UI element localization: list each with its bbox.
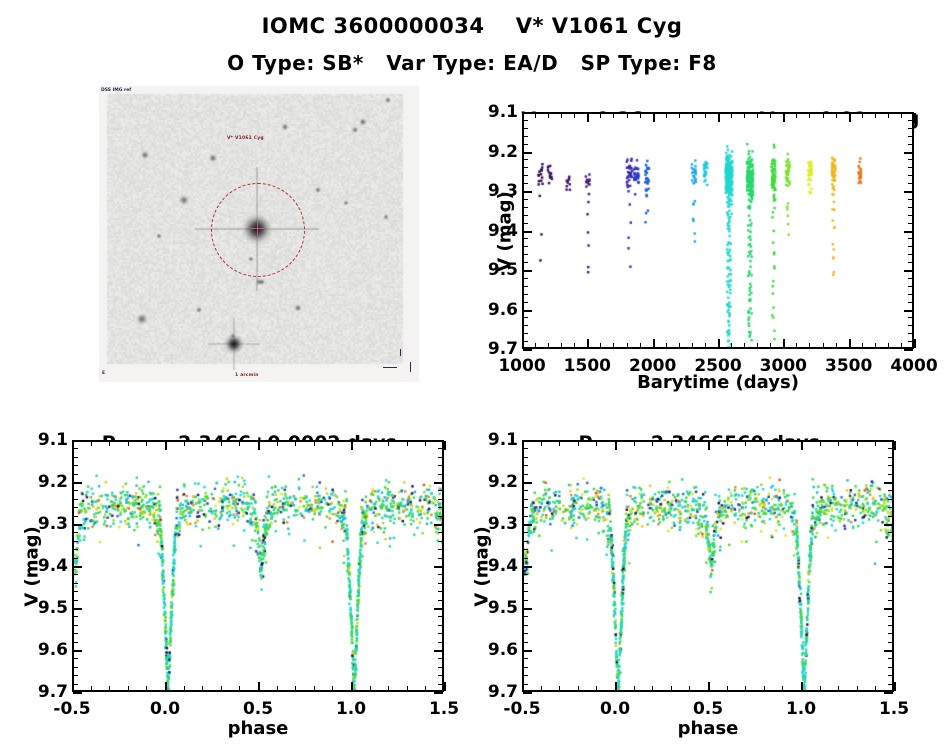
axis-tick <box>351 441 353 450</box>
axis-tick <box>434 566 443 568</box>
axis-tick <box>708 441 710 450</box>
axis-tick <box>523 650 532 652</box>
axis-tick <box>523 667 528 668</box>
axis-tick <box>73 507 78 508</box>
axis-tick <box>332 686 333 691</box>
axis-tick <box>888 574 893 575</box>
axis-tick <box>523 152 532 154</box>
axis-tick <box>888 343 889 348</box>
axis-tick <box>888 448 893 449</box>
axis-tick <box>884 650 893 652</box>
axis-tick <box>875 343 876 348</box>
axis-tick <box>73 465 78 466</box>
axis-tick <box>782 686 783 691</box>
axis-tick <box>73 642 78 643</box>
axis-tick <box>523 254 528 255</box>
axis-tick <box>857 441 858 446</box>
axis-tick <box>444 441 446 450</box>
axis-tick <box>888 625 893 626</box>
page-subtitle: O Type: SB* Var Type: EA/D SP Type: F8 <box>0 51 944 75</box>
axis-tick <box>908 278 913 279</box>
x-tick-label: 0.0 <box>600 699 630 719</box>
axis-tick <box>523 549 528 550</box>
axis-tick <box>73 474 78 475</box>
axis-tick <box>666 113 667 118</box>
axis-tick <box>731 343 732 348</box>
axis-tick <box>434 692 443 694</box>
axis-tick <box>744 343 745 348</box>
axis-tick <box>239 441 240 446</box>
axis-tick <box>914 339 916 348</box>
axis-tick <box>523 333 528 334</box>
axis-tick <box>438 667 443 668</box>
axis-tick <box>757 113 758 118</box>
axis-tick <box>908 136 913 137</box>
axis-tick <box>523 246 528 247</box>
axis-tick <box>908 246 913 247</box>
y-tick-label: 9.4 <box>22 556 68 576</box>
axis-tick <box>202 441 203 446</box>
axis-tick <box>888 516 893 517</box>
axis-tick <box>894 682 896 691</box>
axis-tick <box>559 441 560 446</box>
axis-tick <box>796 343 797 348</box>
timeseries-plot-area[interactable] <box>522 112 914 349</box>
axis-tick <box>884 692 893 694</box>
phase-vsx-x-axis-label: phase <box>522 718 894 739</box>
axis-tick <box>73 583 78 584</box>
axis-tick <box>72 441 74 450</box>
axis-tick <box>523 159 528 160</box>
axis-tick <box>904 231 913 233</box>
axis-tick <box>370 686 371 691</box>
axis-tick <box>438 591 443 592</box>
axis-tick <box>523 183 528 184</box>
axis-tick <box>908 128 913 129</box>
axis-tick <box>146 686 147 691</box>
axis-tick <box>653 113 655 122</box>
axis-tick <box>908 223 913 224</box>
axis-tick <box>888 474 893 475</box>
axis-tick <box>523 112 532 114</box>
axis-tick <box>901 343 902 348</box>
image-source-label: DSS IMG ref <box>101 88 131 93</box>
axis-tick <box>901 113 902 118</box>
axis-tick <box>652 441 653 446</box>
axis-tick <box>708 682 710 691</box>
axis-tick <box>535 113 536 118</box>
y-tick-label: 9.6 <box>22 640 68 660</box>
axis-tick <box>888 532 893 533</box>
axis-tick <box>314 441 315 446</box>
axis-tick <box>523 583 528 584</box>
axis-tick <box>634 441 635 446</box>
axis-tick <box>434 650 443 652</box>
axis-tick <box>73 490 78 491</box>
axis-tick <box>523 317 528 318</box>
axis-tick <box>523 278 528 279</box>
x-tick-label: -0.5 <box>53 699 90 719</box>
orientation-label-east: E <box>102 371 105 376</box>
axis-tick <box>541 686 542 691</box>
y-tick-label: 9.2 <box>472 472 518 492</box>
axis-tick <box>523 199 528 200</box>
axis-tick <box>671 686 672 691</box>
axis-tick <box>888 507 893 508</box>
y-tick-label: 9.2 <box>22 472 68 492</box>
axis-tick <box>523 600 528 601</box>
axis-tick <box>908 262 913 263</box>
axis-tick <box>764 686 765 691</box>
axis-tick <box>523 490 528 491</box>
axis-tick <box>438 675 443 676</box>
axis-tick <box>857 686 858 691</box>
phase-omc-x-axis-label: phase <box>72 718 444 739</box>
axis-tick <box>388 441 389 446</box>
y-tick-label: 9.6 <box>472 300 518 320</box>
axis-tick <box>596 441 597 446</box>
scale-bar-tick <box>410 362 411 372</box>
axis-tick <box>523 675 528 676</box>
axis-tick <box>600 343 601 348</box>
axis-tick <box>634 686 635 691</box>
axis-tick <box>615 441 617 450</box>
axis-tick <box>884 566 893 568</box>
axis-tick <box>425 441 426 446</box>
axis-tick <box>72 682 74 691</box>
aperture-circle <box>211 183 305 277</box>
sky-image-panel: V* V1061 Cyg DSS IMG ref E 1 arcmin <box>99 86 419 382</box>
axis-tick <box>258 682 260 691</box>
y-tick-label: 9.5 <box>472 598 518 618</box>
axis-tick <box>73 574 78 575</box>
axis-tick <box>184 686 185 691</box>
axis-tick <box>523 136 528 137</box>
axis-tick <box>908 167 913 168</box>
axis-tick <box>718 113 720 122</box>
axis-tick <box>277 441 278 446</box>
axis-tick <box>523 499 528 500</box>
axis-tick <box>559 686 560 691</box>
axis-tick <box>809 113 810 118</box>
axis-tick <box>523 566 532 568</box>
axis-tick <box>627 113 628 118</box>
axis-tick <box>523 286 528 287</box>
x-tick-label: 0.0 <box>150 699 180 719</box>
axis-tick <box>523 167 528 168</box>
axis-tick <box>745 441 746 446</box>
axis-tick <box>587 339 589 348</box>
axis-tick <box>908 302 913 303</box>
axis-tick <box>888 591 893 592</box>
axis-tick <box>73 616 78 617</box>
axis-tick <box>875 686 876 691</box>
axis-tick <box>801 441 803 450</box>
axis-tick <box>184 441 185 446</box>
axis-tick <box>73 675 78 676</box>
axis-tick <box>523 144 528 145</box>
axis-tick <box>862 343 863 348</box>
axis-tick <box>73 524 82 526</box>
axis-tick <box>523 532 528 533</box>
axis-tick <box>109 686 110 691</box>
axis-tick <box>434 608 443 610</box>
axis-tick <box>908 317 913 318</box>
axis-tick <box>523 191 532 193</box>
axis-tick <box>692 113 693 118</box>
axis-tick <box>438 625 443 626</box>
axis-tick <box>820 686 821 691</box>
axis-tick <box>523 262 528 263</box>
axis-tick <box>434 524 443 526</box>
axis-tick <box>884 482 893 484</box>
page-title: IOMC 3600000034 V* V1061 Cyg <box>0 14 944 38</box>
phase-omc-scatter <box>74 442 444 692</box>
axis-tick <box>764 441 765 446</box>
axis-tick <box>823 343 824 348</box>
x-tick-label: 0.5 <box>243 699 273 719</box>
axis-tick <box>888 490 893 491</box>
axis-tick <box>888 600 893 601</box>
axis-tick <box>849 339 851 348</box>
axis-tick <box>434 482 443 484</box>
phase-vsx-plot-area[interactable] <box>522 440 894 692</box>
axis-tick <box>523 558 528 559</box>
axis-tick <box>888 583 893 584</box>
axis-tick <box>888 684 893 685</box>
axis-tick <box>888 465 893 466</box>
axis-tick <box>522 339 524 348</box>
axis-tick <box>849 113 851 122</box>
axis-tick <box>523 658 528 659</box>
y-tick-label: 9.4 <box>472 221 518 241</box>
axis-tick <box>836 113 837 118</box>
axis-tick <box>727 686 728 691</box>
axis-tick <box>73 600 78 601</box>
axis-tick <box>221 441 222 446</box>
axis-tick <box>73 541 78 542</box>
axis-tick <box>73 566 82 568</box>
axis-tick <box>73 516 78 517</box>
x-tick-label: 1.0 <box>786 699 816 719</box>
axis-tick <box>888 658 893 659</box>
axis-tick <box>438 499 443 500</box>
axis-tick <box>73 532 78 533</box>
axis-tick <box>679 343 680 348</box>
axis-tick <box>615 682 617 691</box>
axis-tick <box>523 238 528 239</box>
timeseries-panel: Vmed = 9.26 mag <err_V> = 0.01 mag V (ma… <box>470 86 944 386</box>
axis-tick <box>295 686 296 691</box>
axis-tick <box>884 608 893 610</box>
axis-tick <box>91 686 92 691</box>
axis-tick <box>888 549 893 550</box>
axis-tick <box>783 339 785 348</box>
axis-tick <box>705 343 706 348</box>
axis-tick <box>888 633 893 634</box>
axis-tick <box>434 440 443 442</box>
axis-tick <box>523 507 528 508</box>
dss-finding-chart: V* V1061 Cyg DSS IMG ref E 1 arcmin <box>99 86 419 382</box>
north-arrow <box>400 349 401 356</box>
axis-tick <box>908 199 913 200</box>
y-tick-label: 9.6 <box>472 640 518 660</box>
axis-tick <box>653 339 655 348</box>
axis-tick <box>836 343 837 348</box>
axis-tick <box>73 608 82 610</box>
axis-tick <box>523 616 528 617</box>
axis-tick <box>91 441 92 446</box>
y-tick-label: 9.1 <box>472 430 518 450</box>
axis-tick <box>523 175 528 176</box>
axis-tick <box>613 343 614 348</box>
target-star-label: V* V1061 Cyg <box>227 136 264 141</box>
axis-tick <box>73 591 78 592</box>
axis-tick <box>221 686 222 691</box>
y-tick-label: 9.3 <box>472 514 518 534</box>
axis-tick <box>165 682 167 691</box>
axis-tick <box>438 541 443 542</box>
axis-tick <box>757 343 758 348</box>
axis-tick <box>596 686 597 691</box>
axis-tick <box>73 658 78 659</box>
axis-tick <box>574 343 575 348</box>
axis-tick <box>705 113 706 118</box>
axis-tick <box>548 343 549 348</box>
phase-omc-plot-area[interactable] <box>72 440 444 692</box>
axis-tick <box>587 113 589 122</box>
axis-tick <box>438 633 443 634</box>
axis-tick <box>718 339 720 348</box>
axis-tick <box>727 441 728 446</box>
axis-tick <box>523 574 528 575</box>
timeseries-x-axis-label: Barytime (days) <box>522 372 914 393</box>
axis-tick <box>875 441 876 446</box>
axis-tick <box>388 686 389 691</box>
axis-tick <box>908 207 913 208</box>
axis-tick <box>109 441 110 446</box>
y-tick-label: 9.3 <box>22 514 68 534</box>
axis-tick <box>73 692 82 694</box>
axis-tick <box>783 113 785 122</box>
y-tick-label: 9.4 <box>472 556 518 576</box>
axis-tick <box>908 183 913 184</box>
axis-tick <box>73 482 82 484</box>
axis-tick <box>438 642 443 643</box>
axis-tick <box>523 294 528 295</box>
axis-tick <box>370 441 371 446</box>
axis-tick <box>73 667 78 668</box>
axis-tick <box>908 341 913 342</box>
axis-tick <box>888 642 893 643</box>
x-tick-label: -0.5 <box>503 699 540 719</box>
axis-tick <box>73 440 82 442</box>
axis-tick <box>523 457 528 458</box>
axis-tick <box>73 633 78 634</box>
axis-tick <box>523 465 528 466</box>
phase-vsx-panel: PVSX = 2.3466560 days V (mag) 9.19.29.39… <box>450 410 922 747</box>
axis-tick <box>438 558 443 559</box>
axis-tick <box>523 231 532 233</box>
axis-tick <box>548 113 549 118</box>
axis-tick <box>523 325 528 326</box>
axis-tick <box>407 441 408 446</box>
axis-tick <box>862 113 863 118</box>
axis-tick <box>671 441 672 446</box>
axis-tick <box>523 270 532 272</box>
axis-tick <box>523 524 532 526</box>
scale-bar <box>383 367 397 368</box>
axis-tick <box>908 175 913 176</box>
axis-tick <box>745 686 746 691</box>
axis-tick <box>888 616 893 617</box>
axis-tick <box>574 113 575 118</box>
axis-tick <box>295 441 296 446</box>
y-tick-label: 9.5 <box>472 260 518 280</box>
axis-tick <box>523 215 528 216</box>
axis-tick <box>796 113 797 118</box>
axis-tick <box>578 686 579 691</box>
axis-tick <box>689 686 690 691</box>
axis-tick <box>838 686 839 691</box>
axis-tick <box>438 457 443 458</box>
phase-vsx-scatter <box>524 442 894 692</box>
axis-tick <box>438 474 443 475</box>
axis-tick <box>908 333 913 334</box>
axis-tick <box>165 441 167 450</box>
axis-tick <box>888 558 893 559</box>
axis-tick <box>679 113 680 118</box>
axis-tick <box>652 686 653 691</box>
axis-tick <box>258 441 260 450</box>
axis-tick <box>73 457 78 458</box>
axis-tick <box>535 343 536 348</box>
axis-tick <box>908 120 913 121</box>
axis-tick <box>523 541 528 542</box>
axis-tick <box>888 541 893 542</box>
axis-tick <box>884 440 893 442</box>
axis-tick <box>904 270 913 272</box>
x-tick-label: 1.5 <box>879 699 909 719</box>
x-tick-label: 0.5 <box>693 699 723 719</box>
axis-tick <box>904 191 913 193</box>
axis-tick <box>73 499 78 500</box>
axis-tick <box>239 686 240 691</box>
axis-tick <box>73 558 78 559</box>
axis-tick <box>73 549 78 550</box>
axis-tick <box>438 574 443 575</box>
axis-tick <box>523 642 528 643</box>
axis-tick <box>202 686 203 691</box>
axis-tick <box>731 113 732 118</box>
crosshair-vertical <box>257 221 258 237</box>
axis-tick <box>782 441 783 446</box>
y-tick-label: 9.2 <box>472 142 518 162</box>
phase-omc-panel: POMC = 2.3466±0.0002 days V (mag) 9.19.2… <box>0 410 472 747</box>
axis-tick <box>128 686 129 691</box>
axis-tick <box>801 682 803 691</box>
axis-tick <box>522 441 524 450</box>
axis-tick <box>523 310 532 312</box>
axis-tick <box>561 113 562 118</box>
axis-tick <box>523 625 528 626</box>
axis-tick <box>744 113 745 118</box>
axis-tick <box>875 113 876 118</box>
axis-tick <box>438 600 443 601</box>
axis-tick <box>640 113 641 118</box>
axis-tick <box>146 441 147 446</box>
axis-tick <box>438 490 443 491</box>
